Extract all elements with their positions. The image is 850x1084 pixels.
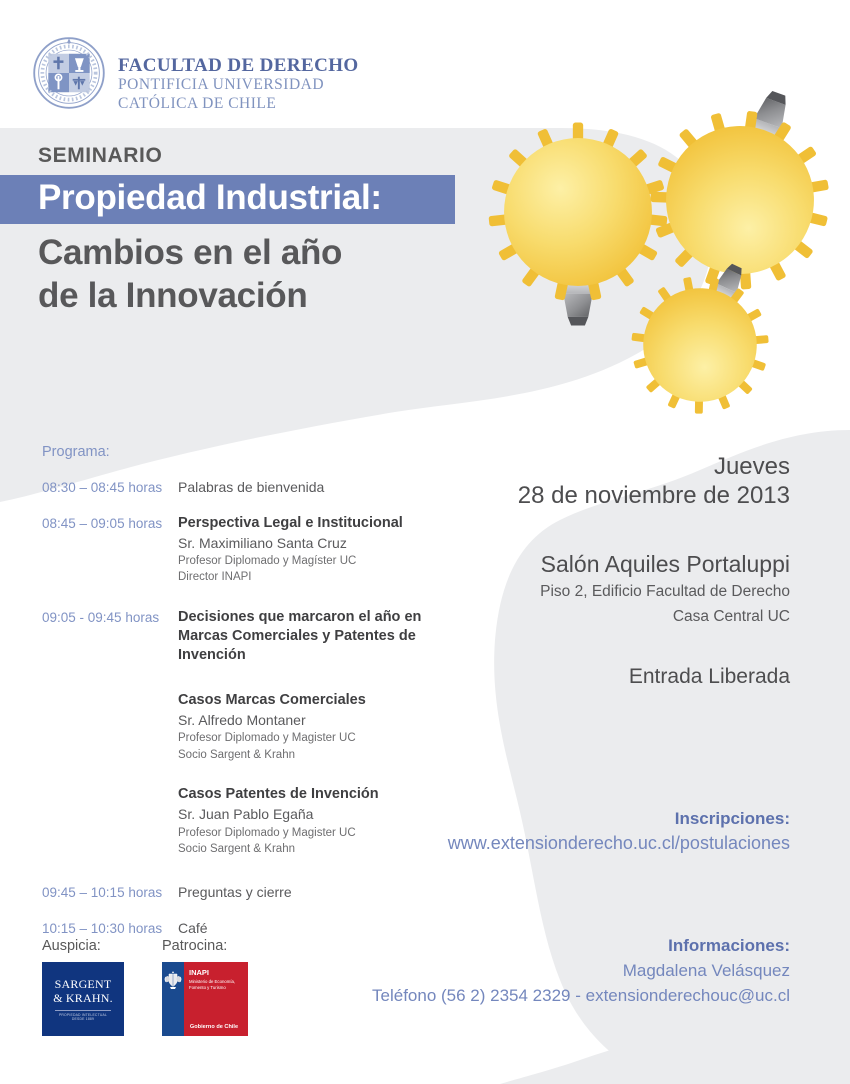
schedule-subrow: Casos Marcas Comerciales Sr. Alfredo Mon… — [42, 691, 472, 763]
schedule-time: 08:30 – 08:45 horas — [42, 478, 174, 497]
auspicia-column: Auspicia: SARGENT & KRAHN. PROPIEDAD INT… — [42, 938, 124, 1036]
information-label: Informaciones: — [320, 935, 790, 958]
gray-arc-bottom — [500, 1010, 850, 1084]
information-block: Informaciones: Magdalena Velásquez Teléf… — [320, 935, 790, 1009]
contact-phone-email[interactable]: Teléfono (56 2) 2354 2329 - extensionder… — [320, 983, 790, 1009]
faculty-name: FACULTAD DE DERECHO — [118, 55, 359, 76]
schedule-time: 08:45 – 09:05 horas — [42, 514, 174, 533]
event-entry: Entrada Liberada — [410, 665, 790, 689]
speaker-affiliation-2: Socio Sargent & Krahn — [178, 747, 472, 763]
title-highlight-band: Propiedad Industrial: — [0, 175, 455, 224]
seminar-poster: FACULTAD DE DERECHO PONTIFICIA UNIVERSID… — [0, 0, 850, 1084]
inapi-name: INAPI — [189, 969, 248, 977]
schedule-row: 09:05 - 09:45 horas Decisiones que marca… — [42, 608, 472, 665]
program-section: Programa: 08:30 – 08:45 horas Palabras d… — [42, 444, 472, 954]
speaker-affiliation-1: Profesor Diplomado y Magister UC — [178, 730, 472, 746]
patrocina-label: Patrocina: — [162, 938, 248, 954]
lightbulb-lower-right — [609, 237, 799, 436]
title-line-3: de la Innovación — [38, 275, 470, 318]
event-venue: Salón Aquiles Portaluppi — [410, 551, 790, 579]
inapi-logo: INAPI Ministerio de Economía, Fomento y … — [162, 962, 248, 1036]
schedule-time-spacer — [42, 785, 174, 786]
case-title: Casos Marcas Comerciales — [178, 691, 472, 710]
poster-title-block: SEMINARIO Propiedad Industrial: Cambios … — [0, 144, 470, 317]
schedule-row: 09:45 – 10:15 horas Preguntas y cierre — [42, 883, 472, 903]
event-venue-floor: Piso 2, Edificio Facultad de Derecho — [410, 581, 790, 602]
university-name-line1: PONTIFICIA UNIVERSIDAD — [118, 76, 359, 94]
inapi-text-panel: INAPI Ministerio de Economía, Fomento y … — [184, 962, 248, 1036]
title-highlight-text: Propiedad Industrial: — [38, 180, 455, 217]
registration-url[interactable]: www.extensionderecho.uc.cl/postulaciones — [370, 830, 790, 856]
event-venue-campus: Casa Central UC — [410, 606, 790, 627]
sargent-krahn-line2: & KRAHN. — [53, 991, 113, 1005]
sponsors-section: Auspicia: SARGENT & KRAHN. PROPIEDAD INT… — [42, 938, 248, 1036]
lightbulb-upper-right — [625, 63, 850, 315]
auspicia-label: Auspicia: — [42, 938, 124, 954]
schedule-row: 08:30 – 08:45 horas Palabras de bienveni… — [42, 478, 472, 498]
title-line-2: Cambios en el año — [38, 232, 470, 275]
title-remaining-lines: Cambios en el año de la Innovación — [38, 232, 470, 317]
schedule-body: Casos Marcas Comerciales Sr. Alfredo Mon… — [174, 691, 472, 763]
chile-coat-of-arms-icon — [162, 970, 184, 990]
schedule-time: 10:15 – 10:30 horas — [42, 919, 174, 938]
registration-block: Inscripciones: www.extensionderecho.uc.c… — [370, 808, 790, 856]
schedule-time-spacer — [42, 691, 174, 692]
patrocina-column: Patrocina: INAPI Min — [162, 938, 248, 1036]
institution-header: FACULTAD DE DERECHO PONTIFICIA UNIVERSID… — [32, 36, 359, 113]
case-title: Casos Patentes de Invención — [178, 785, 472, 804]
event-date: 28 de noviembre de 2013 — [410, 481, 790, 510]
inapi-emblem-panel — [162, 962, 184, 1036]
sargent-krahn-logo: SARGENT & KRAHN. PROPIEDAD INTELECTUAL D… — [42, 962, 124, 1036]
inapi-government: Gobierno de Chile — [184, 1024, 244, 1030]
lightbulb-large — [489, 123, 668, 326]
schedule-time: 09:45 – 10:15 horas — [42, 883, 174, 902]
inapi-ministry: Ministerio de Economía, Fomento y Turism… — [189, 979, 248, 990]
schedule-body: Preguntas y cierre — [174, 883, 472, 903]
schedule-time: 09:05 - 09:45 horas — [42, 608, 174, 627]
sargent-krahn-line1: SARGENT — [55, 977, 112, 991]
program-label: Programa: — [42, 444, 472, 460]
university-name-line2: CATÓLICA DE CHILE — [118, 95, 359, 113]
event-day: Jueves — [410, 452, 790, 481]
schedule-description: Preguntas y cierre — [178, 883, 472, 903]
contact-name: Magdalena Velásquez — [320, 958, 790, 984]
schedule-row: 08:45 – 09:05 horas Perspectiva Legal e … — [42, 514, 472, 586]
event-details: Jueves 28 de noviembre de 2013 Salón Aqu… — [410, 452, 790, 689]
sargent-krahn-tagline: PROPIEDAD INTELECTUAL DESDE 1889 — [55, 1010, 111, 1021]
registration-label: Inscripciones: — [370, 808, 790, 830]
uc-crest-icon — [32, 36, 106, 110]
seminar-kicker: SEMINARIO — [38, 144, 470, 167]
speaker-name: Sr. Alfredo Montaner — [178, 710, 472, 730]
